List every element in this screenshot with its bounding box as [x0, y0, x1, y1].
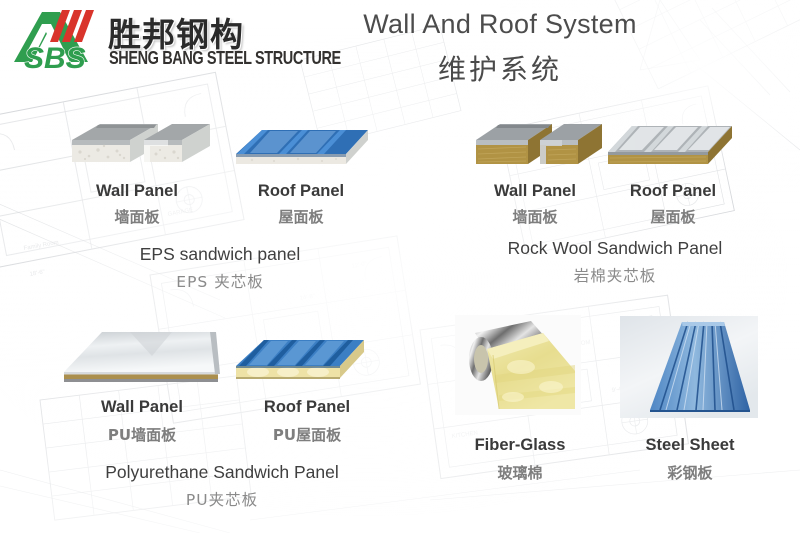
pu-wall-panel-label-cn: PU墙面板 [62, 424, 222, 445]
fiber-glass-roll-image [455, 315, 581, 415]
sbs-logo-mark-icon: SBS [12, 6, 108, 76]
title-chinese: 维护系统 [290, 48, 710, 88]
rockwool-roof-panel-label-cn: 屋面板 [598, 206, 748, 227]
eps-roof-panel-label-en: Roof Panel [226, 182, 376, 201]
eps-wall-panel-image [62, 112, 212, 184]
pu-group-title-cn: PU夹芯板 [52, 488, 392, 510]
svg-text:18'-6": 18'-6" [29, 269, 45, 278]
svg-text:SBS: SBS [24, 42, 86, 75]
rockwool-roof-panel-label-en: Roof Panel [598, 182, 748, 201]
eps-roof-panel-label-cn: 屋面板 [226, 206, 376, 227]
svg-text:14'-8": 14'-8" [299, 294, 315, 302]
pu-roof-panel-label-cn: PU屋面板 [232, 424, 382, 445]
product-poster: GARAGE Family Room 18'-6" 12'-0" 14'-8" … [0, 0, 800, 533]
fiber-glass-label-cn: 玻璃棉 [450, 462, 590, 483]
fiber-glass-label-en: Fiber-Glass [450, 436, 590, 455]
eps-group-title-cn: EPS 夹芯板 [60, 270, 380, 292]
pu-wall-panel-label-en: Wall Panel [62, 398, 222, 417]
steel-sheet-label-cn: 彩钢板 [620, 462, 760, 483]
steel-sheet-image [620, 316, 758, 418]
eps-wall-panel-label-cn: 墙面板 [62, 206, 212, 227]
rockwool-group-title-cn: 岩棉夹芯板 [450, 264, 780, 286]
company-logo: SBS 胜邦钢构 SHENG BANG STEEL STRUCTURE [12, 6, 280, 78]
pu-roof-panel-label-en: Roof Panel [232, 398, 382, 417]
pu-group-title-en: Polyurethane Sandwich Panel [52, 462, 392, 483]
svg-text:Family Room: Family Room [23, 240, 59, 252]
steel-sheet-label-en: Steel Sheet [620, 436, 760, 455]
rockwool-group-title-en: Rock Wool Sandwich Panel [450, 238, 780, 259]
rockwool-wall-panel-image [470, 114, 606, 188]
rockwool-wall-panel-label-cn: 墙面板 [460, 206, 610, 227]
rockwool-roof-panel-image [602, 116, 738, 180]
eps-roof-panel-image [228, 118, 374, 180]
pu-wall-panel-image [60, 326, 224, 396]
eps-group-title-en: EPS sandwich panel [60, 244, 380, 265]
pu-roof-panel-image [230, 332, 370, 394]
page-title: Wall And Roof System 维护系统 [290, 0, 710, 95]
eps-wall-panel-label-en: Wall Panel [62, 182, 212, 201]
rockwool-wall-panel-label-en: Wall Panel [460, 182, 610, 201]
title-english: Wall And Roof System [290, 9, 710, 40]
